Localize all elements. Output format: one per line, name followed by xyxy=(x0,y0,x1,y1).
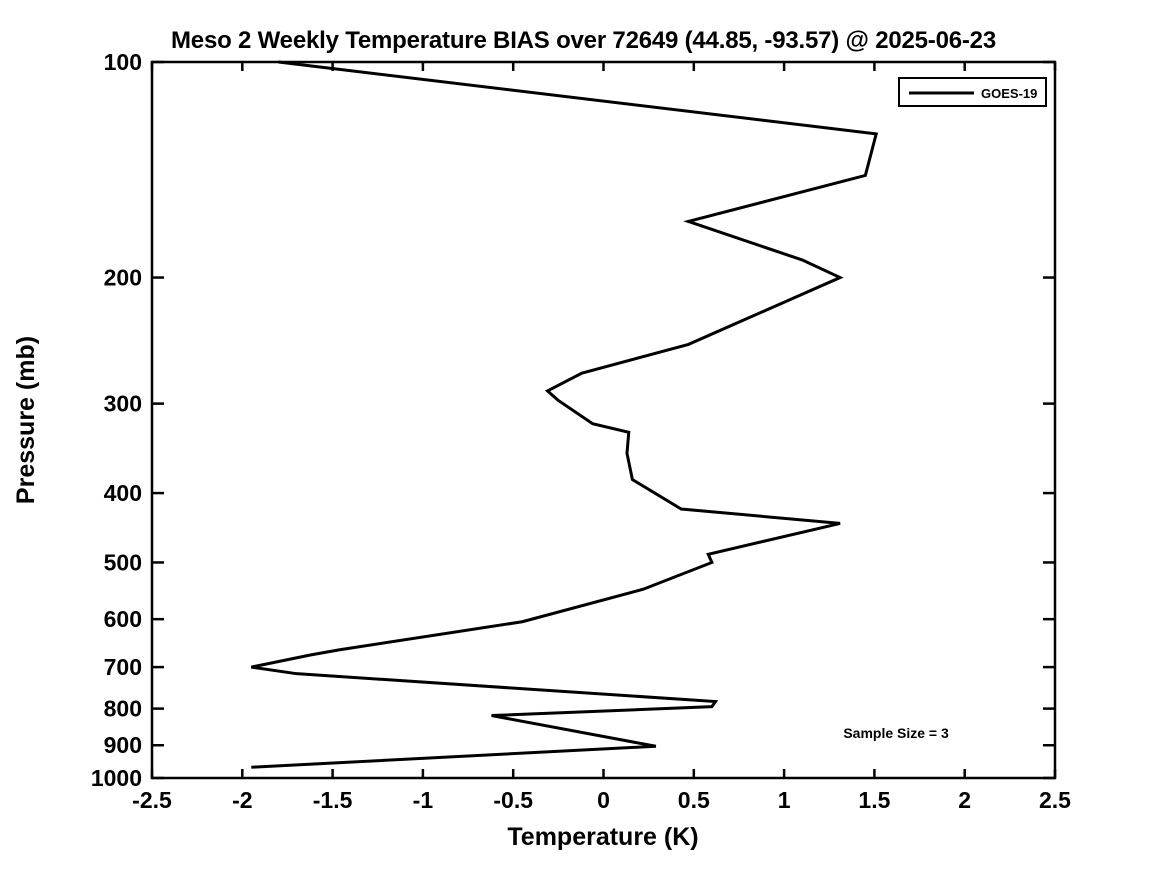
x-tick-label: -1.5 xyxy=(313,787,353,813)
y-tick-label: 300 xyxy=(104,391,142,417)
y-tick-label: 700 xyxy=(104,654,142,680)
annotations-group: Sample Size = 3 xyxy=(843,725,949,741)
y-tick-label: 400 xyxy=(104,480,142,506)
x-axis-ticks: -2.5-2-1.5-1-0.500.511.522.5 xyxy=(132,62,1071,813)
y-axis-ticks: 1002003004005006007008009001000 xyxy=(91,49,1055,791)
x-tick-label: 0 xyxy=(597,787,610,813)
x-tick-label: 2.5 xyxy=(1039,787,1071,813)
y-tick-label: 500 xyxy=(104,549,142,575)
y-tick-label: 900 xyxy=(104,732,142,758)
plot-frame xyxy=(152,62,1055,778)
y-axis-title: Pressure (mb) xyxy=(12,336,40,504)
y-tick-label: 600 xyxy=(104,606,142,632)
data-line-goes-19 xyxy=(251,62,876,767)
y-tick-label: 1000 xyxy=(91,765,142,791)
x-tick-label: 1.5 xyxy=(858,787,890,813)
x-tick-label: 0.5 xyxy=(678,787,710,813)
x-tick-label: 1 xyxy=(778,787,791,813)
plot-area: -2.5-2-1.5-1-0.500.511.522.5 10020030040… xyxy=(0,0,1167,875)
y-tick-label: 200 xyxy=(104,265,142,291)
legend-label-goes-19: GOES-19 xyxy=(981,86,1037,101)
y-tick-label: 100 xyxy=(104,49,142,75)
sample-size-annotation: Sample Size = 3 xyxy=(843,725,949,741)
y-tick-label: 800 xyxy=(104,696,142,722)
x-tick-label: -2 xyxy=(232,787,252,813)
x-tick-label: -0.5 xyxy=(493,787,533,813)
chart-figure: Meso 2 Weekly Temperature BIAS over 7264… xyxy=(0,0,1167,875)
data-series-group xyxy=(251,62,876,767)
x-tick-label: 2 xyxy=(958,787,971,813)
legend: GOES-19 xyxy=(899,78,1046,106)
x-tick-label: -1 xyxy=(413,787,434,813)
x-axis-title: Temperature (K) xyxy=(507,823,698,851)
axes-group xyxy=(152,62,1055,778)
